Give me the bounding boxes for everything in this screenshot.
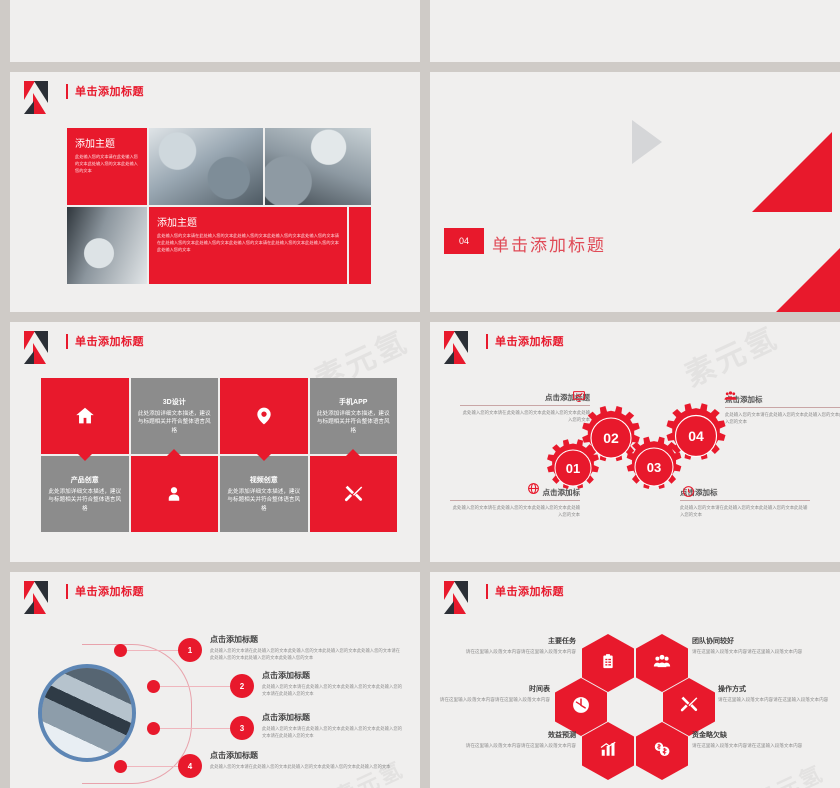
tile-heading: 产品创意	[71, 475, 99, 485]
tile-mobile-app[interactable]: 手机APP 此处添加详细文本描述，建议与标题相关并符合整体语言风格	[310, 378, 398, 454]
connector-line-3	[160, 728, 230, 729]
section-title: 单击添加标题	[492, 231, 606, 256]
brand-logo-icon	[444, 581, 478, 614]
monitor-chart-icon	[572, 390, 586, 406]
slide-title: 单击添加标题	[486, 583, 564, 599]
slide-thumbnail-gears[interactable]: 单击添加标题 素元氢 01 02	[430, 322, 840, 562]
hex-label-title: 资金略欠缺	[692, 730, 804, 740]
red-text-block-1[interactable]: 添加主题 此处输入您的文本请在此处输入您的文本此处输入您的文本此处输入您的文本	[67, 128, 147, 205]
connector-arc	[82, 644, 192, 784]
tile-3d-design[interactable]: 3D设计 此处添加详细文本描述，建议与标题相关并符合整体语言风格	[131, 378, 219, 454]
business-meeting-photo[interactable]	[149, 128, 263, 205]
block-heading: 添加主题	[75, 135, 139, 150]
block-body: 此处输入您的文本请在此处输入您的文本此处输入您的文本此处输入您的文本	[75, 154, 139, 175]
conference-table-photo[interactable]	[67, 207, 147, 284]
step-body: 此处输入您的文本请在此处输入您的文本此处输入您的文本此处输入您的文本请在此处输入…	[262, 683, 402, 697]
slide-thumbnail-partial-top-left[interactable]: 请在此处输入 您的文本	[10, 0, 420, 62]
gear-diagram: 01 02 03 04 点击添加标 此处输入您的文本请在此处输入您的文本此处输入…	[430, 322, 840, 562]
gear-label-body: 此处输入您的文本请在此处输入您的文本此处输入您的文本此处输入您的文本	[450, 504, 580, 518]
arc-dot-3	[147, 722, 160, 735]
step-number-1[interactable]: 1	[178, 638, 202, 662]
hex-label-title: 时间表	[438, 684, 550, 694]
hex-label-title: 效益预测	[464, 730, 576, 740]
title-accent-bar	[486, 584, 488, 599]
slide-thumbnail-grid: 请在此处输入 您的文本 您通过复制您的文本后， 您通过复制您的文本后， 您通过复…	[0, 0, 840, 610]
title-accent-bar	[66, 584, 68, 599]
photo-block-grid: 添加主题 此处输入您的文本请在此处输入您的文本此处输入您的文本此处输入您的文本 …	[67, 128, 367, 286]
tile-location[interactable]	[220, 378, 308, 454]
brand-logo-icon	[24, 331, 58, 364]
slide-title-text: 单击添加标题	[75, 333, 144, 349]
hex-label-body: 请在这里输入段落文本内容请在这里输入段落文本内容	[718, 696, 830, 704]
gear-label-body: 此处输入您的文本请在此处输入您的文本此处输入您的文本此处输入您的文本	[680, 504, 810, 518]
hex-label-body: 请在这里输入段落文本内容请在这里输入段落文本内容	[464, 742, 576, 750]
tile-body: 此处添加详细文本描述，建议与标题相关并符合整体语言风格	[317, 410, 391, 436]
section-number: 04	[444, 228, 484, 254]
globe-icon	[527, 482, 540, 498]
gear-label-title: 点击添加标题	[460, 392, 590, 406]
clipboard-icon	[600, 652, 616, 675]
step-title: 点击添加标题	[262, 712, 402, 723]
gear-label-04[interactable]: 点击添加标 此处输入您的文本请在此处输入您的文本此处输入您的文本此处输入您的文本	[725, 394, 840, 425]
slide-title: 单击添加标题	[66, 83, 144, 99]
tile-notch	[78, 454, 92, 461]
slide-thumbnail-partial-top-right[interactable]: 您通过复制您的文本后， 您通过复制您的文本后， 您通过复制您的文本后， 本后，您…	[430, 0, 840, 62]
block-heading: 添加主题	[157, 214, 339, 229]
gear-label-title: 点击添加标	[450, 487, 580, 501]
hex-label-team[interactable]: 团队协同较好 请在这里输入段落文本内容请在这里输入段落文本内容	[692, 636, 804, 656]
tile-heading: 视频创意	[250, 475, 278, 485]
hex-label-body: 请在这里输入段落文本内容请在这里输入段落文本内容	[438, 696, 550, 704]
tile-video-idea[interactable]: 视频创意 此处添加详细文本描述，建议与标题相关并符合整体语言风格	[220, 456, 308, 532]
hex-label-body: 请在这里输入段落文本内容请在这里输入段落文本内容	[692, 742, 804, 750]
step-title: 点击添加标题	[210, 634, 400, 645]
slide-thumbnail-hexagons[interactable]: 单击添加标题 素元氢	[430, 572, 840, 788]
tile-user[interactable]	[131, 456, 219, 532]
tile-home[interactable]	[41, 378, 129, 454]
red-triangle-mid	[752, 132, 832, 212]
tile-body: 此处添加详细文本描述，建议与标题相关并符合整体语言风格	[138, 410, 212, 436]
step-text-2[interactable]: 点击添加标题 此处输入您的文本请在此处输入您的文本此处输入您的文本此处输入您的文…	[262, 670, 402, 697]
tools-icon	[343, 484, 364, 505]
hex-label-title: 主要任务	[464, 636, 576, 646]
tools-icon	[679, 695, 699, 719]
team-icon	[652, 653, 672, 674]
hex-label-main-task[interactable]: 主要任务 请在这里输入段落文本内容请在这里输入段落文本内容	[464, 636, 576, 656]
bar-chart-icon	[599, 740, 618, 762]
tile-notch	[346, 449, 360, 456]
hex-label-funding[interactable]: 资金略欠缺 请在这里输入段落文本内容请在这里输入段落文本内容	[692, 730, 804, 750]
gear-label-02[interactable]: 点击添加标题 此处输入您的文本请在此处输入您的文本此处输入您的文本此处输入您的文…	[460, 392, 590, 423]
tile-notch	[257, 454, 271, 461]
slide-thumbnail-icon-tiles[interactable]: 单击添加标题 素元氢 3D设计 此处添加详细文本描述，建议与标题相关并符合整体语…	[10, 322, 420, 562]
connector-line-1	[127, 650, 179, 651]
gray-triangle	[632, 120, 662, 164]
hexagon-cluster: 主要任务 请在这里输入段落文本内容请在这里输入段落文本内容 团队协同较好 请在这…	[430, 624, 840, 788]
gear-04[interactable]: 04	[671, 411, 721, 461]
step-body: 此处输入您的文本请在此处输入您的文本此处输入您的文本此处输入您的文本此处输入您的…	[210, 647, 400, 661]
connector-line-2	[160, 686, 230, 687]
location-pin-icon	[254, 405, 274, 427]
hex-label-title: 操作方式	[718, 684, 830, 694]
row2-group: 添加主题 此处输入您的文本请在此处输入您的文本此处输入您的文本此处输入您的文本此…	[149, 207, 371, 284]
red-text-block-2[interactable]: 添加主题 此处输入您的文本请在此处输入您的文本此处输入您的文本此处输入您的文本此…	[149, 207, 347, 284]
tile-body: 此处添加详细文本描述，建议与标题相关并符合整体语言风格	[48, 488, 122, 514]
tile-tools[interactable]	[310, 456, 398, 532]
tile-product-idea[interactable]: 产品创意 此处添加详细文本描述，建议与标题相关并符合整体语言风格	[41, 456, 129, 532]
arc-dot-4	[114, 760, 127, 773]
slide-thumbnail-photo-blocks[interactable]: 单击添加标题 添加主题 此处输入您的文本请在此处输入您的文本此处输入您的文本此处…	[10, 72, 420, 312]
tile-notch	[167, 449, 181, 456]
home-icon	[74, 405, 96, 427]
step-number-2[interactable]: 2	[230, 674, 254, 698]
step-title: 点击添加标题	[210, 750, 400, 761]
clock-icon	[682, 485, 695, 501]
slide-title: 单击添加标题	[66, 583, 144, 599]
laptop-desk-photo[interactable]	[265, 128, 371, 205]
title-accent-bar	[66, 334, 68, 349]
hex-label-operation[interactable]: 操作方式 请在这里输入段落文本内容请在这里输入段落文本内容	[718, 684, 830, 704]
step-body: 此处输入您的文本请在此处输入您的文本此处输入您的文本此处输入您的文本请在此处输入…	[262, 725, 402, 739]
hex-label-body: 请在这里输入段落文本内容请在这里输入段落文本内容	[464, 648, 576, 656]
arc-dot-2	[147, 680, 160, 693]
step-text-1[interactable]: 点击添加标题 此处输入您的文本请在此处输入您的文本此处输入您的文本此处输入您的文…	[210, 634, 400, 661]
tile-body: 此处添加详细文本描述，建议与标题相关并符合整体语言风格	[227, 488, 301, 514]
gear-label-title: 点击添加标	[725, 394, 840, 408]
title-accent-bar	[66, 84, 68, 99]
clock-icon	[571, 695, 591, 719]
red-triangle-bottom	[770, 248, 840, 312]
tile-heading: 3D设计	[163, 397, 186, 407]
step-number-3[interactable]: 3	[230, 716, 254, 740]
gear-number: 04	[671, 411, 721, 461]
brand-logo-icon	[24, 581, 58, 614]
step-text-3[interactable]: 点击添加标题 此处输入您的文本请在此处输入您的文本此处输入您的文本此处输入您的文…	[262, 712, 402, 739]
tile-grid: 3D设计 此处添加详细文本描述，建议与标题相关并符合整体语言风格 手机APP 此…	[41, 378, 397, 533]
gear-label-03[interactable]: 点击添加标 此处输入您的文本请在此处输入您的文本此处输入您的文本此处输入您的文本	[680, 487, 810, 518]
connector-line-4	[127, 766, 179, 767]
red-accent-block	[349, 207, 371, 284]
step-body: 此处输入您的文本请在此处输入您的文本此处输入您的文本此处输入您的文本此处输入您的…	[210, 763, 400, 770]
arc-dot-1	[114, 644, 127, 657]
slide-title-text: 单击添加标题	[75, 83, 144, 99]
hex-label-body: 请在这里输入段落文本内容请在这里输入段落文本内容	[692, 648, 804, 656]
gear-label-body: 此处输入您的文本请在此处输入您的文本此处输入您的文本此处输入您的文本	[460, 409, 590, 423]
slide-thumbnail-circle-steps[interactable]: 单击添加标题 素元氢 1 2 3 4 点击添加标题 此处输入您的文本请在此处输入…	[10, 572, 420, 788]
gear-label-body: 此处输入您的文本请在此处输入您的文本此处输入您的文本此处输入您的文本	[725, 411, 840, 425]
gear-label-title: 点击添加标	[680, 487, 810, 501]
hex-label-forecast[interactable]: 效益预测 请在这里输入段落文本内容请在这里输入段落文本内容	[464, 730, 576, 750]
hex-label-title: 团队协同较好	[692, 636, 804, 646]
block-body: 此处输入您的文本请在此处输入您的文本此处输入您的文本此处输入您的文本此处输入您的…	[157, 233, 339, 254]
team-icon	[723, 390, 738, 406]
money-icon	[652, 740, 672, 762]
slide-title: 单击添加标题	[66, 333, 144, 349]
brand-logo-icon	[24, 81, 58, 114]
step-number-4[interactable]: 4	[178, 754, 202, 778]
slide-thumbnail-section-cover[interactable]: 04 单击添加标题	[430, 72, 840, 312]
step-text-4[interactable]: 点击添加标题 此处输入您的文本请在此处输入您的文本此处输入您的文本此处输入您的文…	[210, 750, 400, 770]
tile-heading: 手机APP	[339, 397, 367, 407]
step-title: 点击添加标题	[262, 670, 402, 681]
hex-label-schedule[interactable]: 时间表 请在这里输入段落文本内容请在这里输入段落文本内容	[438, 684, 550, 704]
slide-title-text: 单击添加标题	[495, 583, 564, 599]
geometric-decoration	[600, 72, 840, 312]
user-icon	[165, 483, 183, 505]
gear-label-01[interactable]: 点击添加标 此处输入您的文本请在此处输入您的文本此处输入您的文本此处输入您的文本	[450, 487, 580, 518]
slide-title-text: 单击添加标题	[75, 583, 144, 599]
